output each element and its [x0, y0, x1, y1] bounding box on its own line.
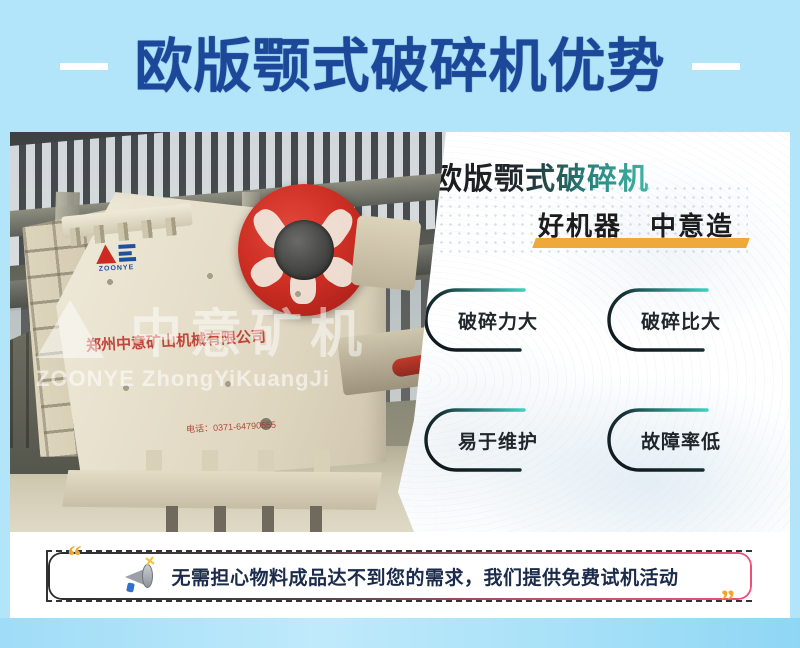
megaphone-icon — [121, 562, 155, 590]
page-header: 欧版颚式破碎机优势 — [0, 0, 800, 132]
feature-item[interactable]: 易于维护 — [412, 404, 589, 476]
notice-text: 无需担心物料成品达不到您的需求，我们提供免费试机活动 — [171, 563, 678, 590]
feature-item[interactable]: 破碎比大 — [595, 284, 772, 356]
crusher-feet — [130, 506, 340, 532]
machine-brand-logo: ZOONYE — [95, 243, 136, 273]
content-card: ZOONYE 郑州中意矿山机械有限公司 电话：0371-64790555 中意矿… — [10, 132, 790, 618]
feature-label: 故障率低 — [641, 427, 721, 454]
panel-subtitle: 好机器 中意造 — [538, 212, 734, 242]
notice-content: 无需担心物料成品达不到您的需求，我们提供免费试机活动 — [48, 552, 752, 600]
panel-subtitle-wrap: 好机器 中意造 — [538, 206, 734, 243]
panel-title: 欧版颚式破碎机 — [432, 154, 649, 198]
megaphone-rim — [142, 564, 153, 588]
info-panel: 欧版颚式破碎机 好机器 中意造 — [390, 132, 790, 532]
left-edge-strip — [0, 132, 10, 618]
feature-item[interactable]: 破碎力大 — [412, 284, 589, 356]
feature-label: 破碎比大 — [641, 307, 721, 334]
crusher-belt-guard — [351, 215, 422, 291]
feature-label: 易于维护 — [458, 427, 538, 454]
header-dash-left — [60, 63, 108, 70]
logo-triangle-shape — [95, 244, 116, 264]
flywheel-hole — [248, 204, 293, 253]
notice-banner: “ ” 无需担心物料成品达不到您的需求，我们提供免费试机活动 — [46, 550, 754, 602]
feature-grid: 破碎力大 破碎比大 — [412, 284, 772, 476]
header-dash-right — [692, 63, 740, 70]
logo-e-shape — [118, 244, 136, 262]
bottom-blue-strip — [0, 618, 800, 648]
feature-label: 破碎力大 — [458, 307, 538, 334]
page-title: 欧版颚式破碎机优势 — [134, 37, 665, 95]
promo-page: 欧版颚式破碎机优势 — [0, 0, 800, 648]
crusher-base — [62, 470, 382, 510]
zoonye-logo-icon — [95, 243, 136, 265]
megaphone-handle — [127, 582, 136, 592]
feature-item[interactable]: 故障率低 — [595, 404, 772, 476]
flywheel-hole — [312, 204, 357, 253]
right-edge-strip — [790, 132, 800, 618]
